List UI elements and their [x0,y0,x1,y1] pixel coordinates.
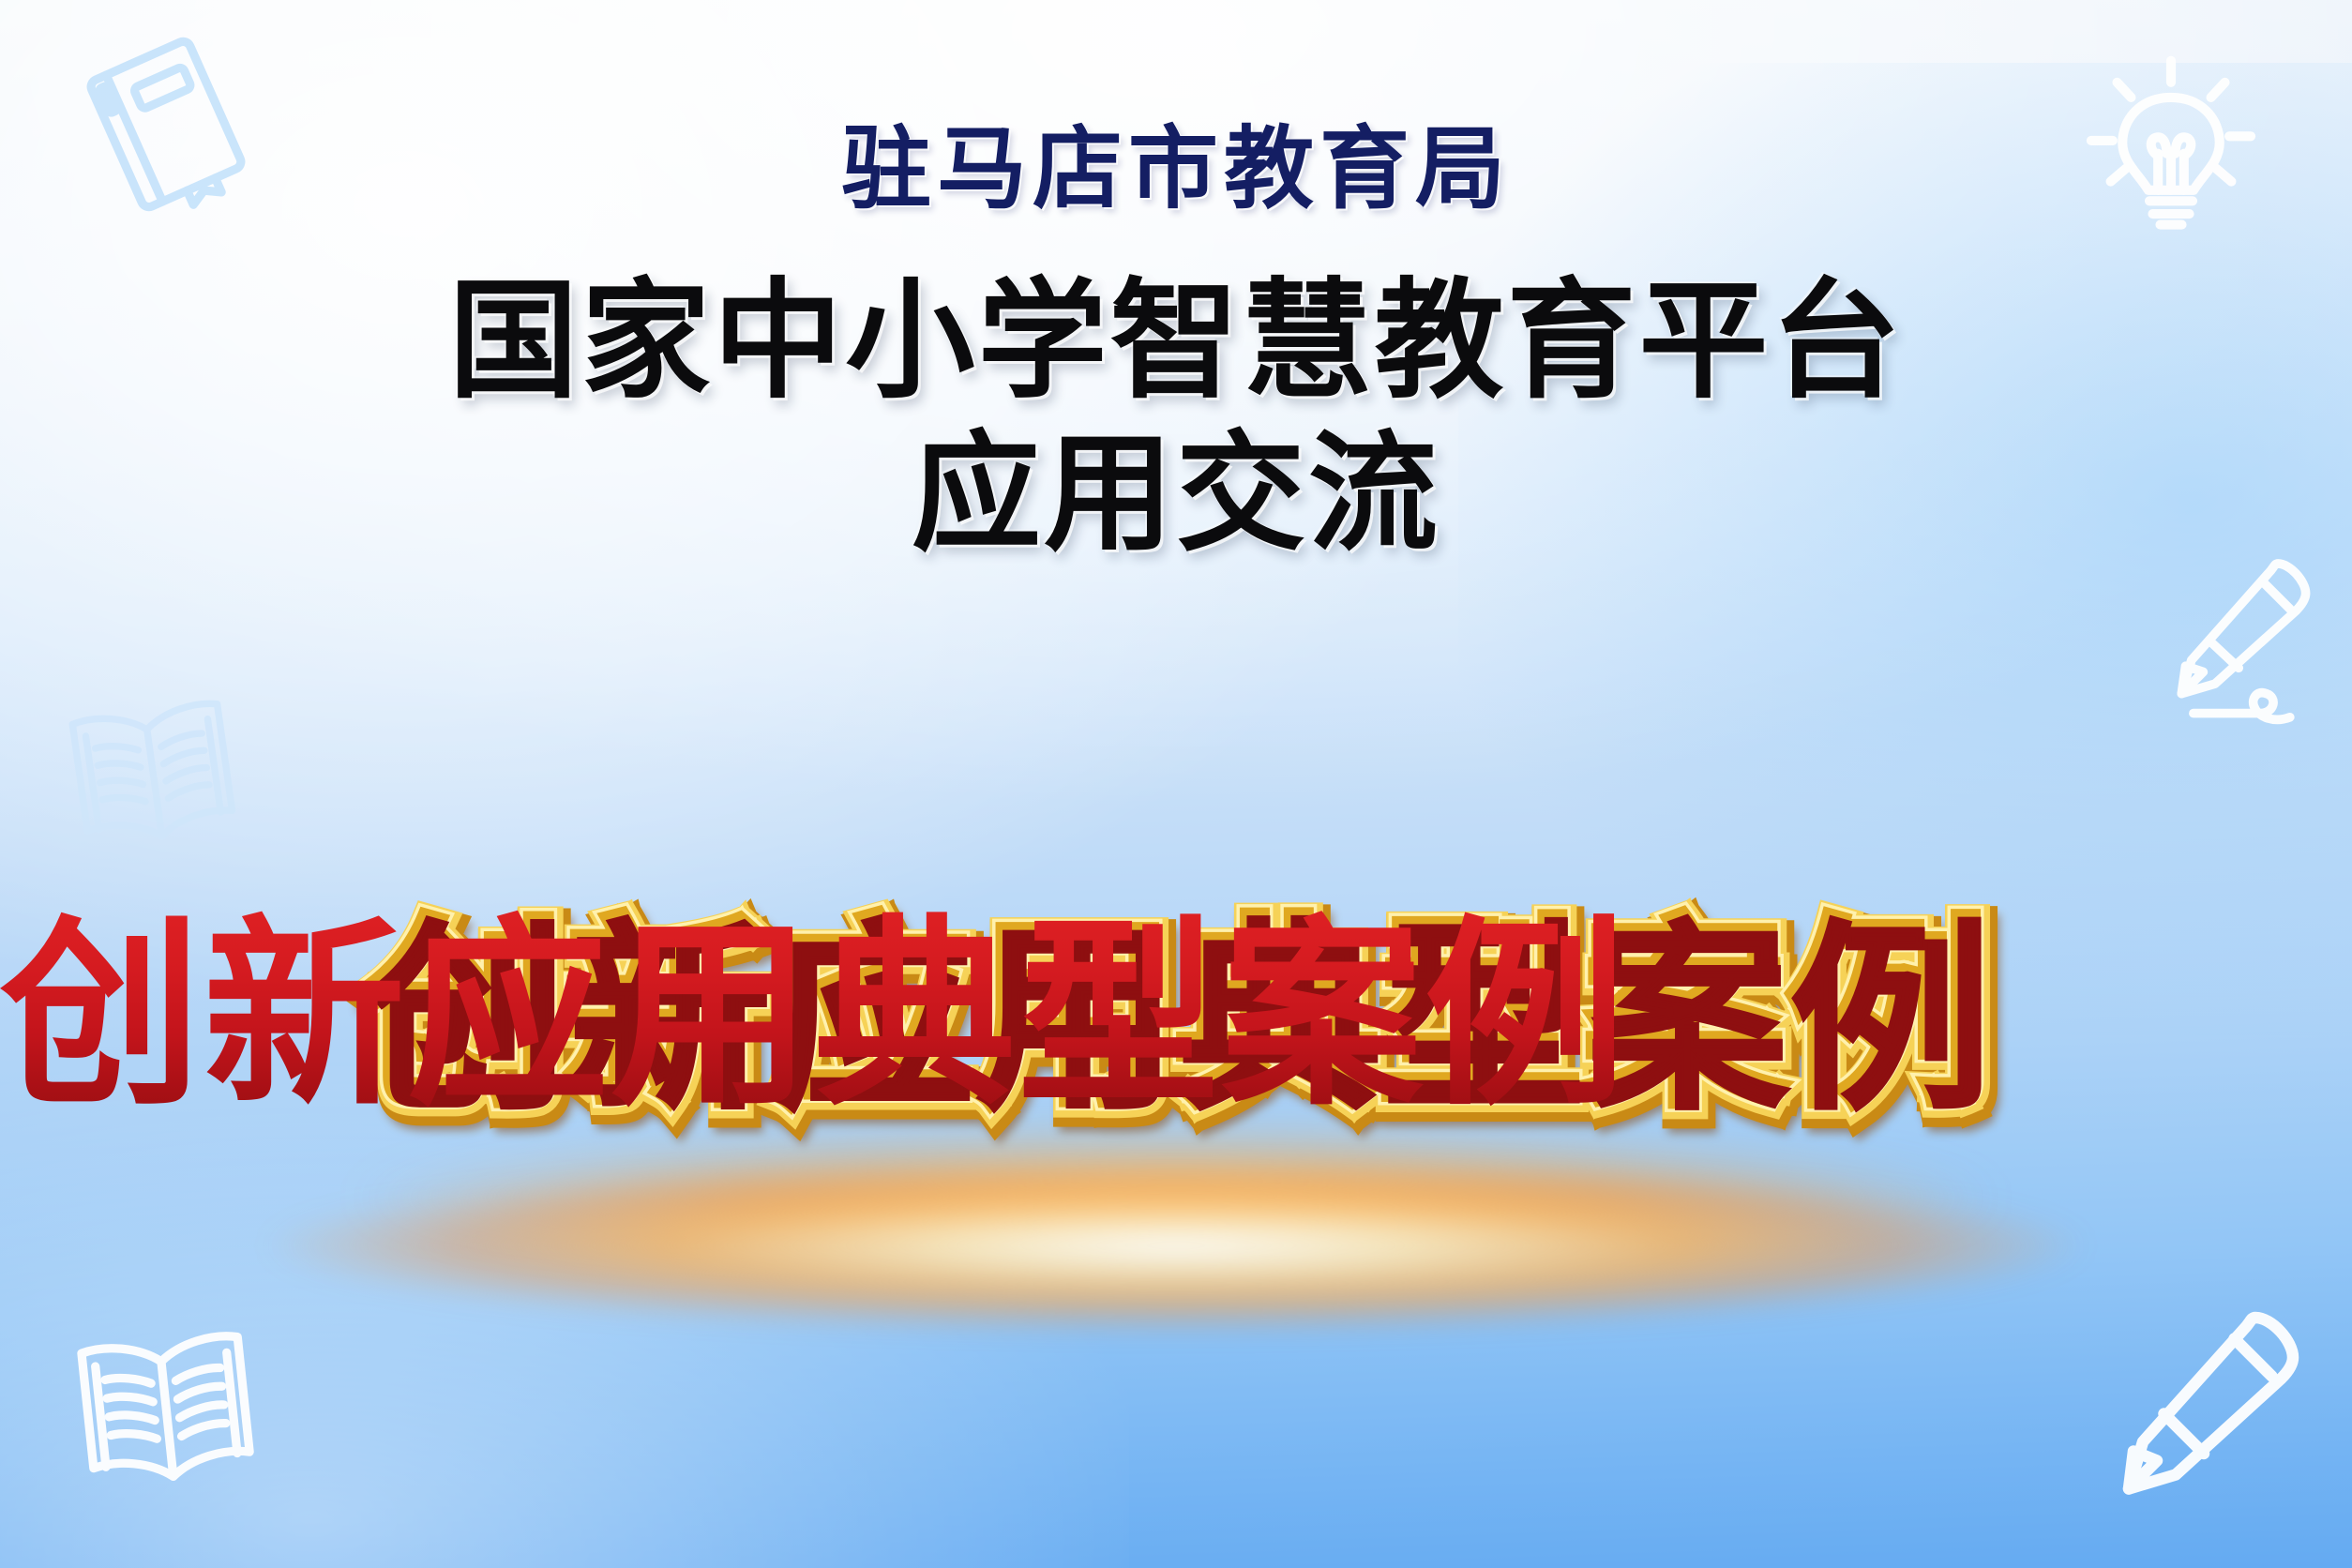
poster-header: 驻马店市教育局 国家中小学智慧教育平台 应用交流 [0,122,2352,570]
hero-title-block: 创新应用典型案例 创新应用典型案例 创新应用典型案例 创新应用典型案例 创新应用… [0,914,2352,1308]
open-book-icon [45,675,261,867]
main-title-line-2: 应用交流 [0,418,2352,571]
hero-title-red-face-layer: 创新应用典型案例 [0,897,1628,1133]
hero-glow-inner [154,1147,2198,1381]
main-title-line-1: 国家中小学智慧教育平台 [0,265,2352,418]
hero-title: 创新应用典型案例 创新应用典型案例 创新应用典型案例 创新应用典型案例 创新应用… [0,914,2352,1116]
main-title: 国家中小学智慧教育平台 应用交流 [0,265,2352,571]
poster-canvas: 驻马店市教育局 国家中小学智慧教育平台 应用交流 创新应用典型案例 创新应用典型… [0,0,2352,1568]
organization-name: 驻马店市教育局 [0,122,2352,217]
